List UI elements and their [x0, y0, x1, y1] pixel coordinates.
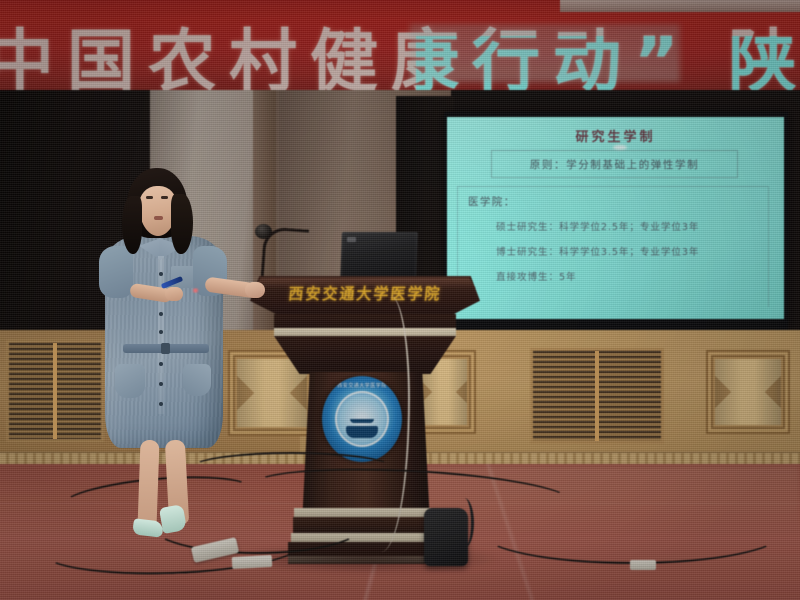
- diamond-motif: [715, 359, 781, 425]
- slide-bullet-doctoral: 博士研究生：科学学位3.5年；专业学位3年: [496, 244, 699, 258]
- slide-bullet-masters: 硕士研究生：科学学位2.5年；专业学位3年: [496, 219, 699, 233]
- power-strip: [232, 555, 273, 569]
- speaker-mouth: [154, 216, 163, 220]
- speaker-sleeve-left: [99, 246, 133, 298]
- slide-content: 研究生学制 原则：学分制基础上的弹性学制 医学院： 硕士研究生：科学学位2.5年…: [447, 117, 784, 319]
- slide-principle-text: 原则：学分制基础上的弹性学制: [492, 157, 737, 172]
- wall-vent-right: [530, 348, 664, 444]
- lecture-hall-photo: 中国农村健康行动” 陕西省 中国农村健康行动” 陕西省 研究生学制 原则：学分制…: [0, 0, 800, 600]
- slide-principle-box: 原则：学分制基础上的弹性学制: [491, 150, 738, 178]
- power-strip: [630, 560, 656, 570]
- speaker-dress-button: [159, 382, 163, 386]
- speaker-leg-left: [137, 440, 159, 529]
- slide-body-box: 医学院： 硕士研究生：科学学位2.5年；专业学位3年 博士研究生：科学学位3.5…: [457, 186, 769, 307]
- speaker-hand-left: [165, 287, 183, 301]
- microphone-icon: [255, 224, 272, 239]
- speaker-hair-left: [122, 196, 142, 254]
- event-banner: 中国农村健康行动” 陕西省 中国农村健康行动” 陕西省: [0, 0, 800, 92]
- speaker-dress-button: [159, 402, 163, 406]
- speaker-dress-button: [159, 362, 163, 366]
- speaker-eye-right: [161, 196, 168, 199]
- floor-cable: [190, 452, 394, 484]
- slide-title: 研究生学制: [447, 126, 784, 145]
- speaker-dress-button: [159, 272, 163, 276]
- speaker-pocket-left: [115, 364, 145, 398]
- vent-divider: [595, 351, 599, 441]
- speaker-belt-buckle: [161, 343, 170, 354]
- bag-strap: [455, 498, 474, 548]
- laser-dot: [191, 288, 200, 293]
- ceiling-edge: [560, 0, 800, 12]
- speaker-hand-right: [245, 282, 265, 298]
- speaker-dress-placket: [158, 256, 164, 414]
- wall-diamond-panel-4: [706, 350, 790, 434]
- laptop-logo: [347, 237, 356, 242]
- speaker-dress-button: [159, 312, 163, 316]
- projection-screen: 研究生学制 原则：学分制基础上的弹性学制 医学院： 硕士研究生：科学学位2.5年…: [447, 117, 784, 319]
- slide-bullet-direct-phd: 直接攻博生：5年: [496, 269, 576, 283]
- slide-department-label: 医学院：: [468, 194, 516, 209]
- wall-vent-left: [6, 340, 104, 442]
- floor-cable: [480, 500, 784, 564]
- speaker-eye-left: [146, 196, 153, 199]
- vent-divider: [53, 343, 57, 439]
- speaker-dress-button: [159, 330, 163, 334]
- speaker-pocket-right: [183, 364, 211, 396]
